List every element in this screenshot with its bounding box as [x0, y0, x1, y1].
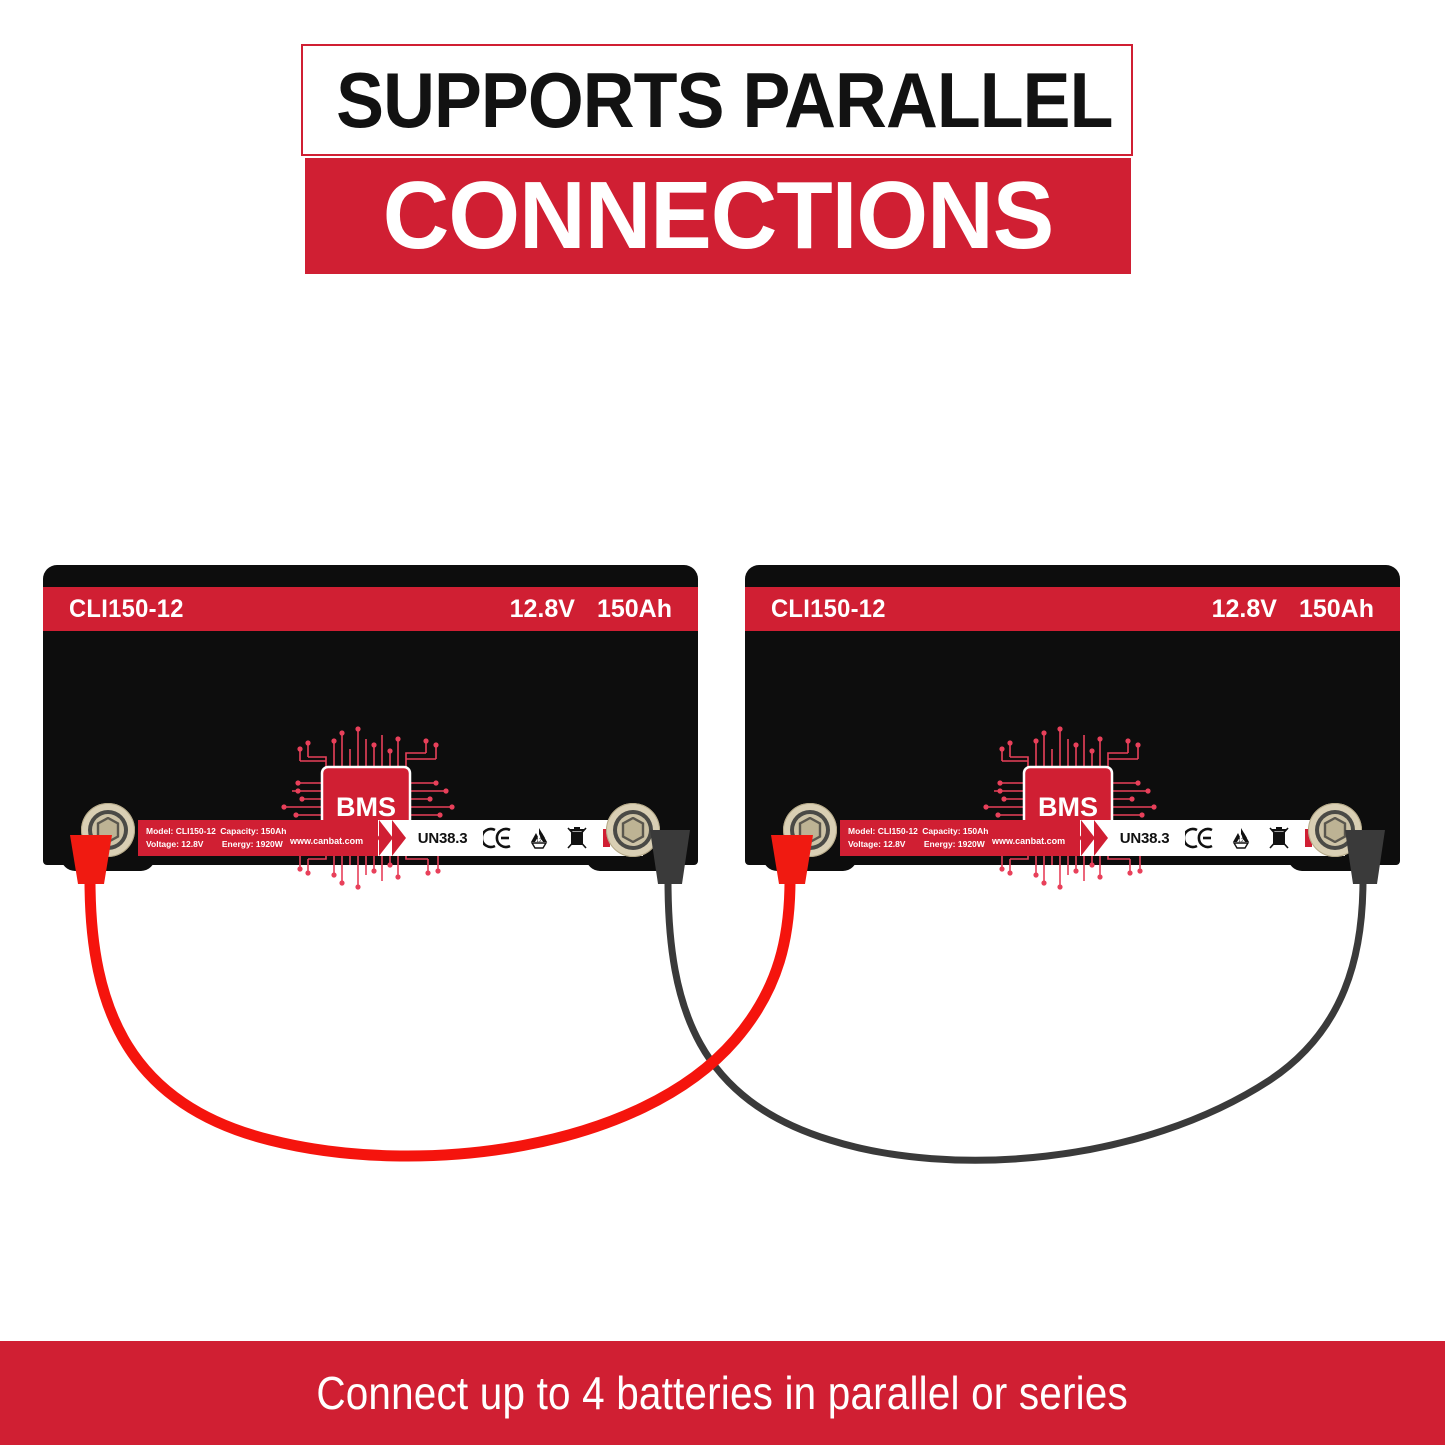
negative-terminal[interactable] — [606, 803, 660, 857]
header-bottom-box: CONNECTIONS — [305, 158, 1131, 274]
un383-mark: UN38.3 — [418, 830, 468, 847]
footer-banner: Connect up to 4 batteries in parallel or… — [0, 1341, 1445, 1445]
battery-voltage-label: 12.8V — [1212, 595, 1277, 624]
battery-2[interactable]: CLI150-12 12.8V 150Ah — [745, 565, 1400, 870]
spec-text-block: Model: CLI150-12 Capacity: 150Ah Voltage… — [146, 825, 288, 850]
negative-link-cable — [668, 880, 1363, 1160]
spec-website: www.canbat.com — [290, 836, 363, 846]
bms-chip-label: BMS — [336, 792, 396, 822]
infographic-canvas: SUPPORTS PARALLEL CONNECTIONS CLI150-12 … — [0, 0, 1445, 1445]
battery-capacity-label: 150Ah — [597, 595, 672, 624]
spec-voltage: Voltage: 12.8V — [848, 839, 905, 849]
un383-mark: UN38.3 — [1120, 830, 1170, 847]
positive-terminal[interactable] — [783, 803, 837, 857]
footer-text: Connect up to 4 batteries in parallel or… — [317, 1366, 1129, 1420]
recycle-icon: 12 — [528, 826, 550, 850]
certification-icons: UN38.3 12 — [410, 820, 639, 856]
weee-bin-icon — [1268, 826, 1290, 850]
positive-link-cable — [90, 880, 790, 1156]
spec-model: Model: CLI150-12 — [146, 826, 216, 836]
spec-capacity: Capacity: 150Ah — [922, 826, 988, 836]
svg-text:12: 12 — [537, 838, 543, 844]
negative-terminal[interactable] — [1308, 803, 1362, 857]
spec-capacity: Capacity: 150Ah — [220, 826, 286, 836]
battery-1[interactable]: CLI150-12 12.8V 150Ah — [43, 565, 698, 870]
spec-energy: Energy: 1920W — [924, 839, 985, 849]
hex-bolt-icon — [798, 817, 822, 843]
hex-bolt-icon — [96, 817, 120, 843]
hex-bolt-icon — [1323, 817, 1347, 843]
spec-website: www.canbat.com — [992, 836, 1065, 846]
ce-mark — [483, 827, 513, 849]
spec-model: Model: CLI150-12 — [848, 826, 918, 836]
ce-mark — [1185, 827, 1215, 849]
header-line-2: CONNECTIONS — [322, 168, 1115, 264]
battery-title-bar: CLI150-12 12.8V 150Ah — [745, 587, 1400, 631]
hex-bolt-icon — [621, 817, 645, 843]
header-top-box: SUPPORTS PARALLEL — [301, 44, 1133, 156]
battery-title-bar: CLI150-12 12.8V 150Ah — [43, 587, 698, 631]
battery-model-label: CLI150-12 — [771, 595, 886, 624]
recycle-icon: 12 — [1230, 826, 1252, 850]
spec-voltage: Voltage: 12.8V — [146, 839, 203, 849]
battery-capacity-label: 150Ah — [1299, 595, 1374, 624]
spec-energy: Energy: 1920W — [222, 839, 283, 849]
bms-chip-graphic: BMS — [958, 713, 1188, 903]
battery-model-label: CLI150-12 — [69, 595, 184, 624]
chevron-arrows-icon — [1068, 820, 1110, 856]
spec-strip: Model: CLI150-12 Capacity: 150Ah Voltage… — [840, 820, 1345, 856]
spec-strip: Model: CLI150-12 Capacity: 150Ah Voltage… — [138, 820, 643, 856]
chevron-arrows-icon — [366, 820, 408, 856]
bms-chip-label: BMS — [1038, 792, 1098, 822]
certification-icons: UN38.3 12 — [1112, 820, 1341, 856]
svg-text:12: 12 — [1239, 838, 1245, 844]
bms-chip-graphic: BMS — [256, 713, 486, 903]
positive-terminal[interactable] — [81, 803, 135, 857]
battery-voltage-label: 12.8V — [510, 595, 575, 624]
weee-bin-icon — [566, 826, 588, 850]
header-banner: SUPPORTS PARALLEL CONNECTIONS — [301, 44, 1137, 284]
header-line-1: SUPPORTS PARALLEL — [336, 61, 1098, 139]
spec-text-block: Model: CLI150-12 Capacity: 150Ah Voltage… — [848, 825, 990, 850]
